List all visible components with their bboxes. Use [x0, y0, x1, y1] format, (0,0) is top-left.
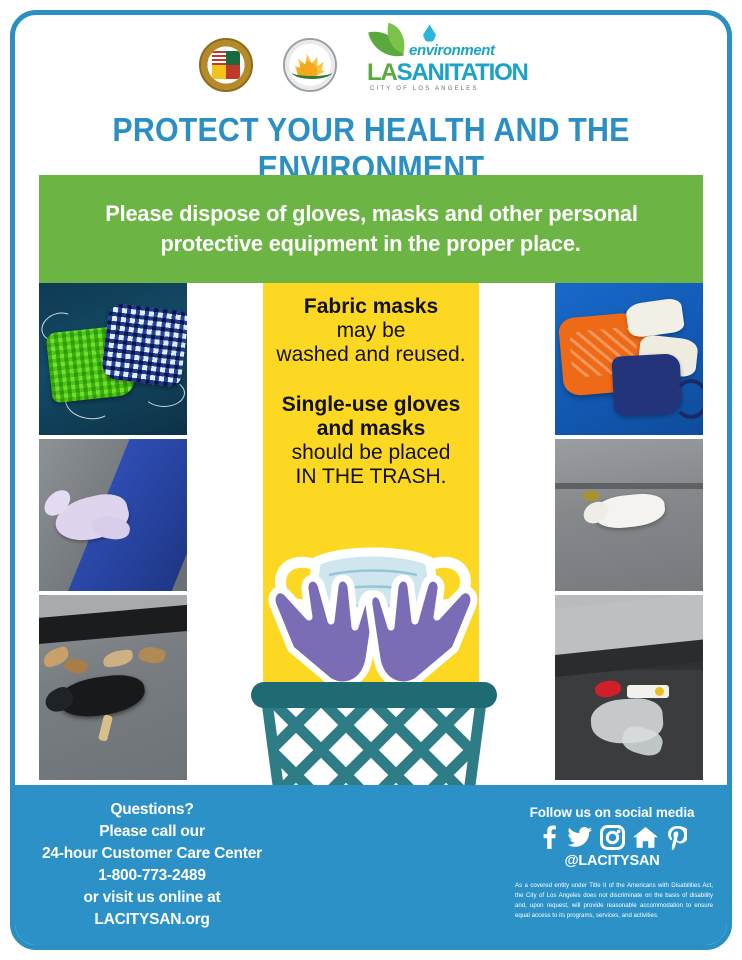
social-icon-row	[507, 825, 717, 850]
clear-plastic-glove	[590, 697, 665, 746]
website-link[interactable]: LACITYSAN.org	[33, 909, 271, 931]
white-mask-1	[625, 297, 685, 338]
single-use-heading-line-1: Single-use gloves	[263, 393, 479, 417]
wrapper-litter	[627, 685, 669, 698]
instagram-icon[interactable]	[600, 825, 625, 850]
photo-lavender-glove-on-street	[39, 439, 187, 591]
photo-clear-glove-with-litter	[555, 595, 703, 780]
photo-black-glove-with-leaves	[39, 595, 187, 780]
navy-mask	[611, 353, 682, 416]
red-litter	[594, 678, 623, 699]
ada-notice: As a covered entity under Title II of th…	[515, 881, 713, 920]
photo-column-right	[555, 283, 703, 780]
green-band-line-1: Please dispose of gloves, masks and othe…	[105, 201, 637, 227]
street-debris	[583, 491, 599, 501]
social-handle: @LACITYSAN	[507, 853, 717, 869]
poster-frame: environment LASANITATION CITY OF LOS ANG…	[10, 10, 732, 950]
sanitation-script-environment: environment	[409, 43, 495, 58]
sanitation-wordmark-la: LA	[367, 59, 397, 86]
contact-line-2: Please call our	[33, 821, 271, 843]
green-band-line-2: protective equipment in the proper place…	[161, 231, 581, 257]
photo-orange-bandana-and-masks	[555, 283, 703, 435]
photo-fabric-masks-green-blue-gingham	[39, 283, 187, 435]
la-sanitation-environment-logo: environment LASANITATION CITY OF LOS ANG…	[367, 39, 543, 92]
sanitation-subtitle: CITY OF LOS ANGELES	[367, 86, 479, 92]
blue-gingham-mask	[101, 302, 187, 387]
fabric-masks-heading: Fabric masks	[263, 295, 479, 319]
asphalt-seam	[555, 483, 703, 489]
facebook-icon[interactable]	[538, 825, 560, 850]
phone-number[interactable]: 1-800-773-2489	[33, 865, 271, 887]
black-glove	[57, 671, 147, 721]
twitter-icon[interactable]	[567, 825, 593, 850]
nextdoor-icon[interactable]	[632, 825, 659, 850]
green-instruction-band: Please dispose of gloves, masks and othe…	[39, 175, 703, 283]
cigarette-litter	[98, 714, 113, 741]
single-use-heading-line-2: and masks	[263, 417, 479, 441]
single-use-line-1: should be placed	[263, 441, 479, 465]
masthead-logos: environment LASANITATION CITY OF LOS ANG…	[15, 33, 727, 97]
water-drop-icon	[423, 25, 436, 42]
photo-white-glove-on-asphalt	[555, 439, 703, 591]
fabric-masks-line-2: washed and reused.	[263, 343, 479, 367]
lavender-glove	[51, 489, 133, 548]
contact-line-5: or visit us online at	[33, 887, 271, 909]
sanitation-wordmark-sanitation: SANITATION	[397, 59, 528, 86]
sanitation-logo-top: environment	[367, 39, 543, 61]
public-works-swoosh-icon	[292, 66, 332, 79]
sanitation-wordmark: LASANITATION	[367, 61, 528, 85]
white-glove	[594, 491, 667, 530]
follow-label: Follow us on social media	[507, 805, 717, 820]
photo-column-left	[39, 283, 187, 780]
poster: environment LASANITATION CITY OF LOS ANG…	[0, 0, 742, 960]
center-panel-text: Fabric masks may be washed and reused. S…	[263, 295, 479, 489]
fabric-masks-line-1: may be	[263, 319, 479, 343]
contact-line-1: Questions?	[33, 799, 271, 821]
city-of-los-angeles-seal-icon	[199, 38, 253, 92]
navy-mask-strap	[673, 379, 703, 419]
single-use-line-2: IN THE TRASH.	[263, 465, 479, 489]
social-block: Follow us on social media @LACITYSAN	[507, 805, 717, 869]
la-public-works-seal-icon	[283, 38, 337, 92]
pinterest-icon[interactable]	[666, 825, 687, 850]
contact-line-3: 24-hour Customer Care Center	[33, 843, 271, 865]
seal-ring	[201, 40, 251, 90]
contact-block: Questions? Please call our 24-hour Custo…	[33, 799, 271, 931]
